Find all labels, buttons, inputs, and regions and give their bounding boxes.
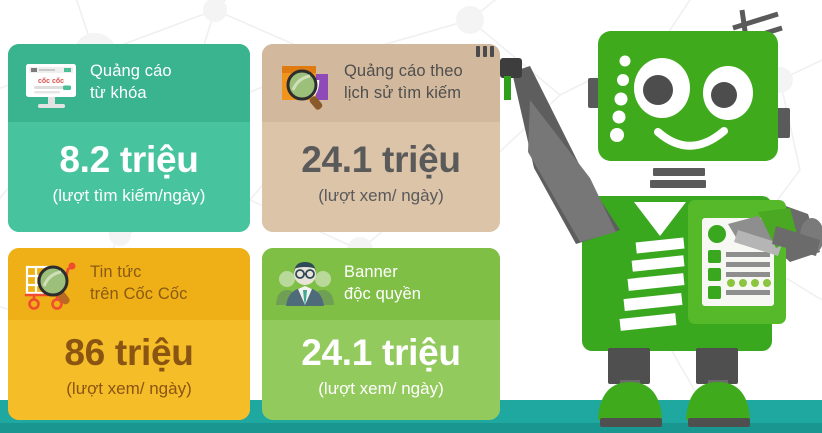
card-body: 86 triệu (lượt xem/ ngày) <box>8 320 250 420</box>
card-value: 24.1 triệu <box>301 141 460 180</box>
card-unit: (lượt xem/ ngày) <box>318 379 444 399</box>
card-title: Quảng cáo từ khóa <box>90 61 172 105</box>
card-header: Tin tức trên Cốc Cốc <box>8 248 250 320</box>
businessman-group-icon <box>274 253 336 315</box>
card-keyword-ads[interactable]: cốc cốc Quảng cáo từ khóa 8.2 triệu (lượ… <box>8 44 250 232</box>
card-title: Banner độc quyền <box>344 262 421 306</box>
cart-magnifier-icon <box>20 253 82 315</box>
robot-arm-holding-card <box>490 0 822 433</box>
card-header: Banner độc quyền <box>262 248 500 320</box>
card-unit: (lượt xem/ ngày) <box>66 379 192 399</box>
monitor-search-icon: cốc cốc <box>20 52 82 114</box>
card-news-coccoc[interactable]: Tin tức trên Cốc Cốc 86 triệu (lượt xem/… <box>8 248 250 420</box>
card-header: cốc cốc Quảng cáo từ khóa <box>8 44 250 122</box>
card-title: Quảng cáo theo lịch sử tìm kiếm <box>344 61 463 105</box>
infographic-canvas: cốc cốc Quảng cáo từ khóa 8.2 triệu (lượ… <box>0 0 822 433</box>
card-value: 86 triệu <box>64 334 193 373</box>
card-header: Quảng cáo theo lịch sử tìm kiếm <box>262 44 500 122</box>
svg-text:cốc cốc: cốc cốc <box>38 77 64 85</box>
card-unit: (lượt xem/ ngày) <box>318 186 444 206</box>
card-body: 24.1 triệu (lượt xem/ ngày) <box>262 122 500 232</box>
card-value: 8.2 triệu <box>59 141 198 180</box>
card-unit: (lượt tìm kiếm/ngày) <box>53 186 206 206</box>
card-body: 8.2 triệu (lượt tìm kiếm/ngày) <box>8 122 250 232</box>
card-title: Tin tức trên Cốc Cốc <box>90 262 188 306</box>
magnifier-history-icon <box>274 52 336 114</box>
card-exclusive-banner[interactable]: Banner độc quyền 24.1 triệu (lượt xem/ n… <box>262 248 500 420</box>
card-body: 24.1 triệu (lượt xem/ ngày) <box>262 320 500 420</box>
card-search-history-ads[interactable]: Quảng cáo theo lịch sử tìm kiếm 24.1 tri… <box>262 44 500 232</box>
card-value: 24.1 triệu <box>301 334 460 373</box>
